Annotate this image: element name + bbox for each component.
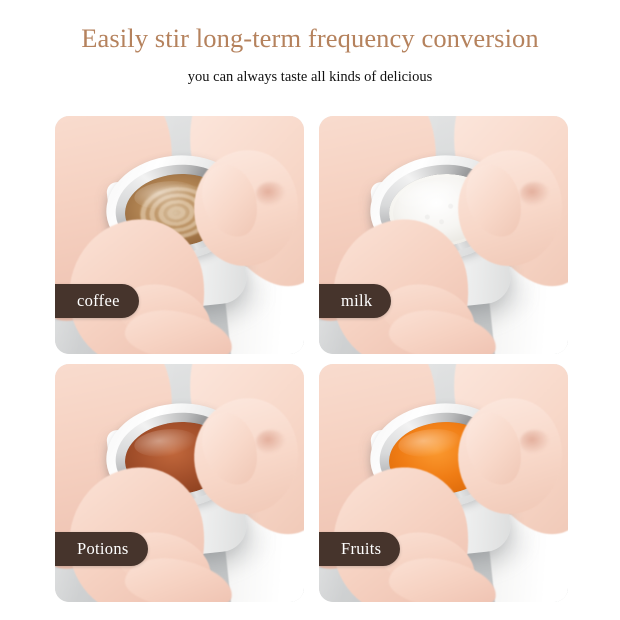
photo-scene-coffee (55, 116, 304, 354)
header: Easily stir long-term frequency conversi… (0, 0, 620, 87)
panel-milk[interactable]: milk (319, 116, 568, 354)
page-title: Easily stir long-term frequency conversi… (0, 24, 620, 53)
right-knuckle (256, 430, 286, 454)
product-feature-page: Easily stir long-term frequency conversi… (0, 0, 620, 620)
caption-label: coffee (77, 293, 120, 310)
right-knuckle (520, 182, 550, 206)
panel-potions[interactable]: Potions (55, 364, 304, 602)
caption-badge-fruits: Fruits (319, 532, 400, 566)
caption-badge-milk: milk (319, 284, 391, 318)
photo-scene-fruits (319, 364, 568, 602)
panel-coffee[interactable]: coffee (55, 116, 304, 354)
right-knuckle (520, 430, 550, 454)
caption-label: Potions (77, 541, 129, 558)
page-subtitle: you can always taste all kinds of delici… (0, 69, 620, 86)
photo-scene-potions (55, 364, 304, 602)
panel-fruits[interactable]: Fruits (319, 364, 568, 602)
beverage-panel-grid: coffee (55, 116, 568, 602)
caption-label: milk (341, 293, 372, 310)
caption-label: Fruits (341, 541, 381, 558)
right-knuckle (256, 182, 286, 206)
photo-scene-milk (319, 116, 568, 354)
caption-badge-coffee: coffee (55, 284, 139, 318)
caption-badge-potions: Potions (55, 532, 148, 566)
